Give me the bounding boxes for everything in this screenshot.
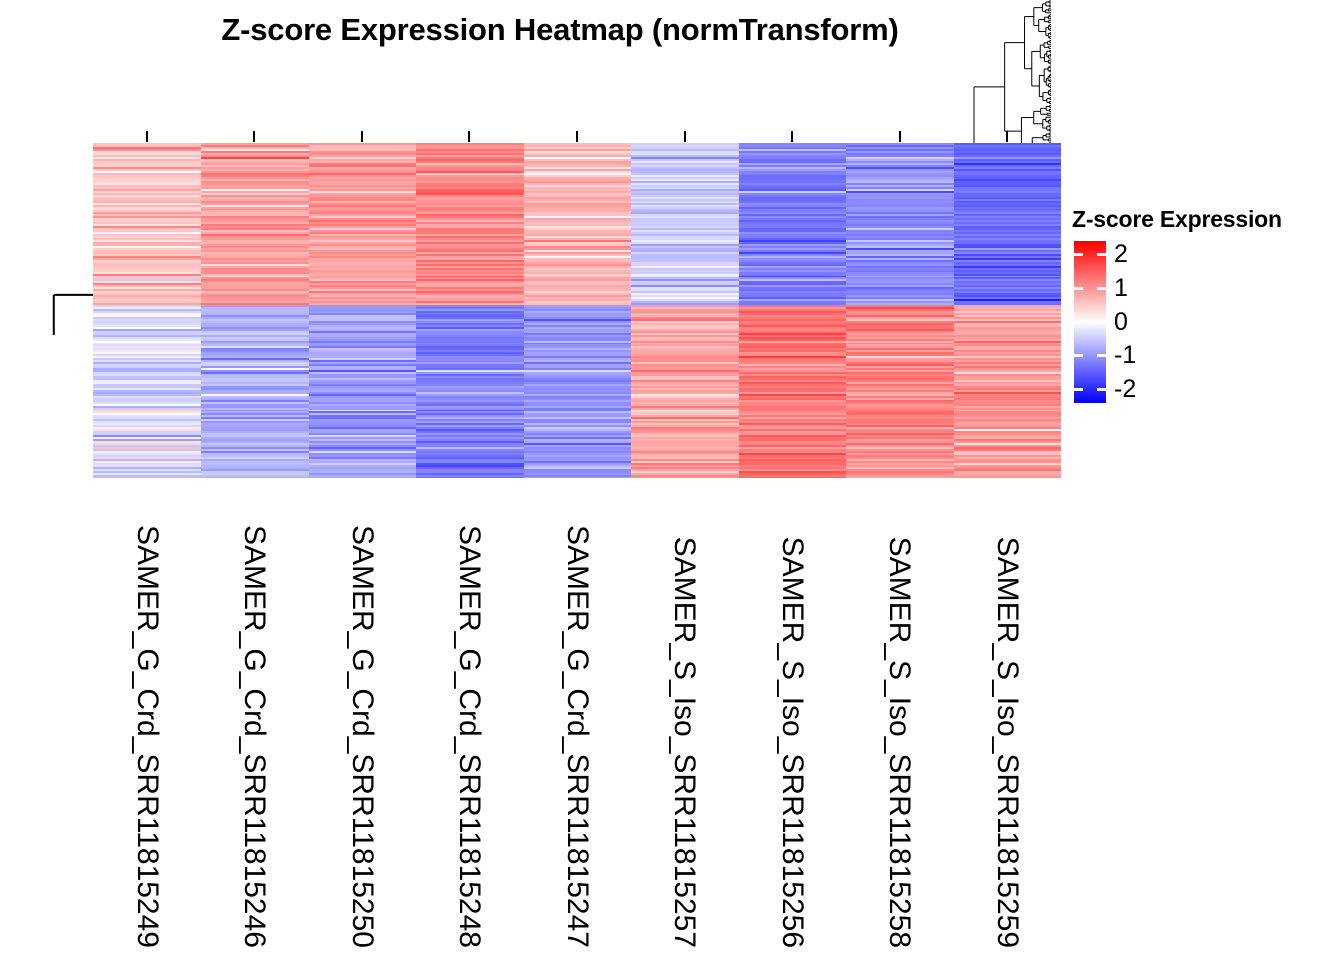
column-label-text: SAMER_S_Iso_SRR11815257: [631, 529, 739, 948]
column-tick: [1006, 131, 1008, 142]
column-label-s_iso-6: SAMER_S_Iso_SRR11815256: [738, 478, 846, 948]
legend-tick-label: 1: [1114, 276, 1128, 301]
legend-tick-label: -2: [1114, 377, 1136, 402]
heatmap-grid: [93, 143, 1061, 478]
legend-title: Z-score Expression: [1072, 206, 1334, 233]
column-label-text: SAMER_S_Iso_SRR11815256: [738, 529, 846, 948]
column-label-text: SAMER_S_Iso_SRR11815258: [846, 529, 954, 948]
legend-colorbar: [1074, 241, 1106, 403]
column-label-s_iso-7: SAMER_S_Iso_SRR11815258: [846, 478, 954, 948]
column-label-g_crd-1: SAMER_G_Crd_SRR11815246: [201, 478, 309, 948]
column-label-s_iso-5: SAMER_S_Iso_SRR11815257: [631, 478, 739, 948]
column-tick: [146, 131, 148, 142]
column-label-g_crd-4: SAMER_G_Crd_SRR11815247: [523, 478, 631, 948]
column-label-text: SAMER_S_Iso_SRR11815259: [954, 529, 1062, 948]
page-title: Z-score Expression Heatmap (normTransfor…: [0, 12, 1120, 48]
column-label-g_crd-0: SAMER_G_Crd_SRR11815249: [93, 478, 201, 948]
legend: Z-score Expression 210-1-2: [1072, 206, 1334, 411]
legend-body: 210-1-2: [1072, 239, 1334, 411]
column-label-text: SAMER_G_Crd_SRR11815247: [523, 517, 631, 948]
column-tick: [468, 131, 470, 142]
legend-tick-label: -1: [1114, 343, 1136, 368]
heatmap-cells: [93, 143, 1061, 478]
column-labels: SAMER_G_Crd_SRR11815249SAMER_G_Crd_SRR11…: [93, 478, 1061, 948]
column-label-text: SAMER_G_Crd_SRR11815246: [201, 517, 309, 948]
heatmap-figure: Z-score Expression Heatmap (normTransfor…: [0, 0, 1344, 960]
column-label-s_iso-8: SAMER_S_Iso_SRR11815259: [954, 478, 1062, 948]
column-label-text: SAMER_G_Crd_SRR11815250: [308, 517, 416, 948]
column-label-g_crd-2: SAMER_G_Crd_SRR11815250: [308, 478, 416, 948]
column-tick: [791, 131, 793, 142]
column-tick-marks: [93, 131, 1061, 143]
column-label-text: SAMER_G_Crd_SRR11815248: [416, 517, 524, 948]
column-tick: [576, 131, 578, 142]
column-label-text: SAMER_G_Crd_SRR11815249: [93, 517, 201, 948]
legend-tick-label: 2: [1114, 242, 1128, 267]
column-tick: [253, 131, 255, 142]
column-tick: [361, 131, 363, 142]
legend-tick-label: 0: [1114, 310, 1128, 335]
column-label-g_crd-3: SAMER_G_Crd_SRR11815248: [416, 478, 524, 948]
column-tick: [684, 131, 686, 142]
column-tick: [899, 131, 901, 142]
